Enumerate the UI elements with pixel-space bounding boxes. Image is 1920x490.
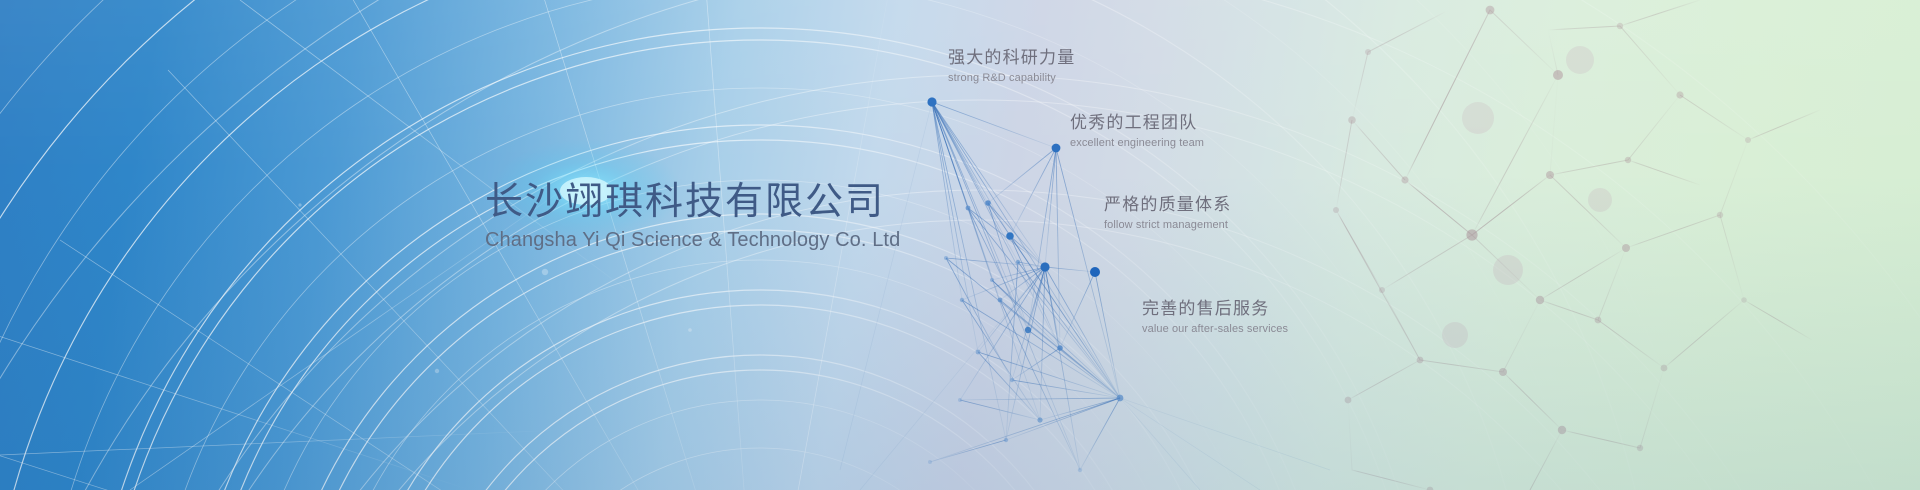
feature-label-team: 优秀的工程团队 excellent engineering team: [1070, 112, 1204, 151]
feature-title-en: value our after-sales services: [1142, 322, 1288, 336]
feature-title-cn: 优秀的工程团队: [1070, 112, 1204, 133]
feature-title-cn: 严格的质量体系: [1104, 194, 1231, 215]
company-title-block: 长沙翊琪科技有限公司 Changsha Yi Qi Science & Tech…: [485, 182, 1045, 252]
feature-label-rd: 强大的科研力量 strong R&D capability: [948, 47, 1075, 86]
feature-title-en: excellent engineering team: [1070, 136, 1204, 150]
feature-label-service: 完善的售后服务 value our after-sales services: [1142, 298, 1288, 337]
feature-label-quality: 严格的质量体系 follow strict management: [1104, 194, 1231, 233]
feature-title-cn: 强大的科研力量: [948, 47, 1075, 68]
feature-title-en: follow strict management: [1104, 218, 1231, 232]
feature-title-en: strong R&D capability: [948, 71, 1075, 85]
page-subtitle: Changsha Yi Qi Science & Technology Co. …: [485, 229, 1045, 252]
hero-banner: 长沙翊琪科技有限公司 Changsha Yi Qi Science & Tech…: [0, 0, 1920, 490]
feature-title-cn: 完善的售后服务: [1142, 298, 1288, 319]
page-title: 长沙翊琪科技有限公司: [485, 182, 1045, 223]
